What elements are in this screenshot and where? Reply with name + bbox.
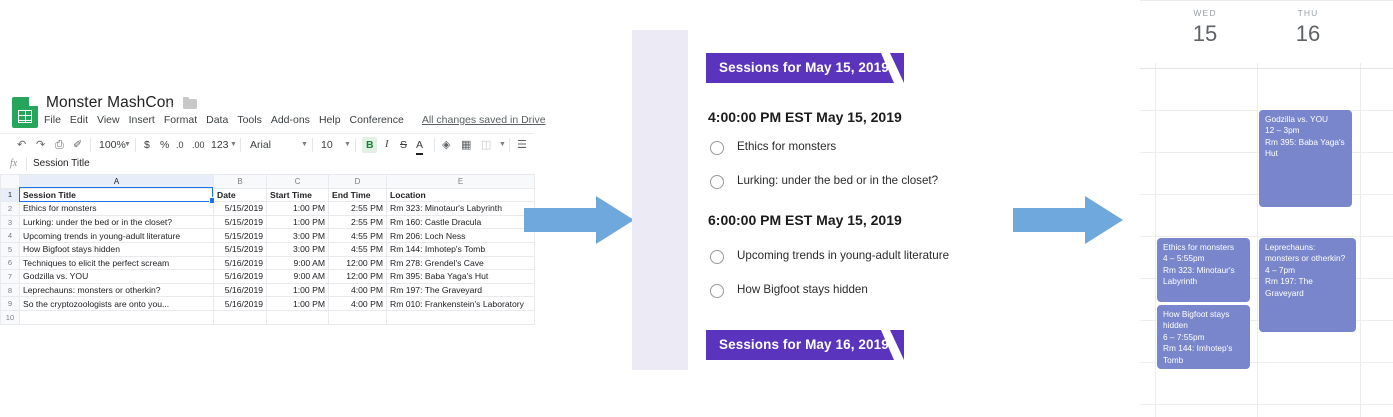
event-title: Godzilla vs. YOU xyxy=(1265,114,1347,125)
cell-a9[interactable]: So the cryptozoologists are onto you... xyxy=(20,297,214,311)
fill-color-icon[interactable]: ◈ xyxy=(442,134,450,156)
fx-icon: fx xyxy=(10,158,17,169)
column-header-row: A B C D E xyxy=(1,175,535,189)
event-location: Rm 144: Imhotep's Tomb xyxy=(1163,343,1245,366)
option-label: Ethics for monsters xyxy=(737,140,836,153)
section-banner-label: Sessions for May 16, 2019 xyxy=(719,330,889,360)
align-icon[interactable]: ☰ xyxy=(517,134,527,156)
google-calendar-panel: WED 15 THU 16 Godzilla vs. YOU 12 – 3pm … xyxy=(1140,0,1393,417)
cell-e2[interactable]: Rm 323: Minotaur's Labyrinth xyxy=(387,202,535,216)
cell-d2[interactable]: 2:55 PM xyxy=(329,202,387,216)
cell-d1[interactable]: End Time xyxy=(329,188,387,202)
corner-select-all[interactable] xyxy=(1,175,20,189)
event-time: 4 – 5:55pm xyxy=(1163,253,1245,264)
row-header-6[interactable]: 6 xyxy=(1,256,20,270)
cell-e8[interactable]: Rm 197: The Graveyard xyxy=(387,283,535,297)
day-number-label: 16 xyxy=(1258,21,1358,47)
cell-c2[interactable]: 1:00 PM xyxy=(267,202,329,216)
cell-a5[interactable]: How Bigfoot stays hidden xyxy=(20,242,214,256)
chevron-down-icon[interactable]: ▼ xyxy=(230,134,237,156)
menu-item-view[interactable]: View xyxy=(97,114,120,126)
calendar-hour-line xyxy=(1140,236,1393,237)
calendar-top-divider xyxy=(1140,0,1393,1)
table-row: 8 Leprechauns: monsters or otherkin? 5/1… xyxy=(1,283,535,297)
cell-a7[interactable]: Godzilla vs. YOU xyxy=(20,270,214,284)
cell-e1[interactable]: Location xyxy=(387,188,535,202)
option-label: How Bigfoot stays hidden xyxy=(737,283,868,296)
cell-b9[interactable]: 5/16/2019 xyxy=(214,297,267,311)
row-header-5[interactable]: 5 xyxy=(1,242,20,256)
menu-item-addons[interactable]: Add-ons xyxy=(271,114,310,126)
cell-d10[interactable] xyxy=(329,310,387,324)
cell-d5[interactable]: 4:55 PM xyxy=(329,242,387,256)
table-row: 5 How Bigfoot stays hidden 5/15/2019 3:0… xyxy=(1,242,535,256)
cell-d8[interactable]: 4:00 PM xyxy=(329,283,387,297)
cell-b5[interactable]: 5/15/2019 xyxy=(214,242,267,256)
cell-a10[interactable] xyxy=(20,310,214,324)
calendar-day-header-thu[interactable]: THU 16 xyxy=(1258,8,1358,47)
arrow-sheet-to-form xyxy=(524,196,634,244)
toolbar-divider xyxy=(434,138,435,152)
form-card: Sessions for May 15, 2019 4:00:00 PM EST… xyxy=(688,30,955,370)
cell-c8[interactable]: 1:00 PM xyxy=(267,283,329,297)
day-of-week-label: THU xyxy=(1258,8,1358,18)
decrease-decimal-button[interactable]: .0 xyxy=(176,134,184,156)
cell-b2[interactable]: 5/15/2019 xyxy=(214,202,267,216)
radio-icon[interactable] xyxy=(710,141,724,155)
font-family-select[interactable]: Arial xyxy=(250,134,271,156)
chevron-down-icon[interactable]: ▼ xyxy=(124,134,131,156)
cell-d3[interactable]: 2:55 PM xyxy=(329,215,387,229)
option-lurking-under-the-bed[interactable]: Lurking: under the bed or in the closet? xyxy=(710,173,940,193)
row-header-10[interactable]: 10 xyxy=(1,310,20,324)
row-header-1[interactable]: 1 xyxy=(1,188,20,202)
borders-icon[interactable]: ▦ xyxy=(461,134,471,156)
spreadsheet-grid[interactable]: A B C D E 1 Session Title Date Start Tim… xyxy=(0,174,534,318)
radio-icon[interactable] xyxy=(710,250,724,264)
day-of-week-label: WED xyxy=(1155,8,1255,18)
cell-b10[interactable] xyxy=(214,310,267,324)
calendar-hour-line xyxy=(1140,68,1393,69)
event-location: Rm 197: The Graveyard xyxy=(1265,276,1351,299)
cell-e9[interactable]: Rm 010: Frankenstein's Laboratory xyxy=(387,297,535,311)
toolbar-divider xyxy=(90,138,91,152)
option-ethics-for-monsters[interactable]: Ethics for monsters xyxy=(710,139,940,159)
event-title: How Bigfoot stays hidden xyxy=(1163,309,1245,332)
column-header-d[interactable]: D xyxy=(329,175,387,189)
table-row: 1 Session Title Date Start Time End Time… xyxy=(1,188,535,202)
table-row: 2 Ethics for monsters 5/15/2019 1:00 PM … xyxy=(1,202,535,216)
cell-a4[interactable]: Upcoming trends in young-adult literatur… xyxy=(20,229,214,243)
bold-button[interactable]: B xyxy=(366,134,374,156)
option-label: Upcoming trends in young-adult literatur… xyxy=(737,249,949,262)
arrow-form-to-calendar xyxy=(1013,196,1123,244)
star-icon[interactable]: ☆ xyxy=(165,98,176,112)
cell-e7[interactable]: Rm 395: Baba Yaga's Hut xyxy=(387,270,535,284)
menu-item-edit[interactable]: Edit xyxy=(70,114,88,126)
table-row: 4 Upcoming trends in young-adult literat… xyxy=(1,229,535,243)
table-row: 6 Techniques to elicit the perfect screa… xyxy=(1,256,535,270)
paint-format-button[interactable]: ✐ xyxy=(73,134,82,156)
sheets-titlebar: Monster MashCon ☆ FileEditViewInsertForm… xyxy=(0,92,534,132)
cell-c3[interactable]: 1:00 PM xyxy=(267,215,329,229)
increase-decimal-button[interactable]: .00 xyxy=(192,134,205,156)
section-banner-may-15: Sessions for May 15, 2019 xyxy=(706,53,904,83)
table-row: 10 xyxy=(1,310,535,324)
section-banner-label: Sessions for May 15, 2019 xyxy=(719,53,889,83)
toolbar-divider xyxy=(312,138,313,152)
day-number-label: 15 xyxy=(1155,21,1255,47)
toolbar-divider xyxy=(509,138,510,152)
table-row: 9 So the cryptozoologists are onto you..… xyxy=(1,297,535,311)
cell-c9[interactable]: 1:00 PM xyxy=(267,297,329,311)
sheets-toolbar: ↶ ↷ ⎙ ✐ 100% ▼ $ % .0 .00 123 ▼ Arial ▼ … xyxy=(0,133,534,157)
zoom-level-select[interactable]: 100% xyxy=(99,134,126,156)
cell-c1[interactable]: Start Time xyxy=(267,188,329,202)
toolbar-divider xyxy=(355,138,356,152)
undo-button[interactable]: ↶ xyxy=(17,134,26,156)
workflow-diagram: Monster MashCon ☆ FileEditViewInsertForm… xyxy=(0,0,1393,417)
option-how-bigfoot-stays-hidden[interactable]: How Bigfoot stays hidden xyxy=(710,282,950,302)
time-heading-6pm: 6:00:00 PM EST May 15, 2019 xyxy=(708,212,902,228)
cell-d4[interactable]: 4:55 PM xyxy=(329,229,387,243)
cell-d9[interactable]: 4:00 PM xyxy=(329,297,387,311)
column-header-b[interactable]: B xyxy=(214,175,267,189)
font-size-select[interactable]: 10 xyxy=(321,134,333,156)
row-header-7[interactable]: 7 xyxy=(1,270,20,284)
calendar-column-divider xyxy=(1155,63,1156,417)
chevron-down-icon[interactable]: ▼ xyxy=(499,134,506,156)
section-banner-may-16: Sessions for May 16, 2019 xyxy=(706,330,904,360)
cell-c4[interactable]: 3:00 PM xyxy=(267,229,329,243)
text-color-button[interactable]: A xyxy=(416,137,423,155)
cell-c5[interactable]: 3:00 PM xyxy=(267,242,329,256)
cell-d6[interactable]: 12:00 PM xyxy=(329,256,387,270)
toolbar-divider xyxy=(135,138,136,152)
cell-c10[interactable] xyxy=(267,310,329,324)
save-status[interactable]: All changes saved in Drive xyxy=(422,114,546,126)
menu-item-file[interactable]: File xyxy=(44,114,61,126)
event-location: Rm 395: Baba Yaga's Hut xyxy=(1265,137,1347,160)
chevron-down-icon[interactable]: ▼ xyxy=(301,134,308,156)
cell-d7[interactable]: 12:00 PM xyxy=(329,270,387,284)
cell-b6[interactable]: 5/16/2019 xyxy=(214,256,267,270)
calendar-event-ethics[interactable]: Ethics for monsters 4 – 5:55pm Rm 323: M… xyxy=(1157,238,1250,302)
event-time: 4 – 7pm xyxy=(1265,265,1351,276)
column-header-c[interactable]: C xyxy=(267,175,329,189)
merge-cells-icon[interactable]: ◫ xyxy=(481,134,491,156)
move-to-folder-icon[interactable] xyxy=(183,99,197,109)
more-formats-button[interactable]: 123 xyxy=(211,134,229,156)
table-row: 7 Godzilla vs. YOU 5/16/2019 9:00 AM 12:… xyxy=(1,270,535,284)
cell-e6[interactable]: Rm 278: Grendel's Cave xyxy=(387,256,535,270)
row-header-2[interactable]: 2 xyxy=(1,202,20,216)
redo-button[interactable]: ↷ xyxy=(36,134,45,156)
cell-a8[interactable]: Leprechauns: monsters or otherkin? xyxy=(20,283,214,297)
cell-e10[interactable] xyxy=(387,310,535,324)
google-form-panel: Sessions for May 15, 2019 4:00:00 PM EST… xyxy=(632,30,955,370)
cell-e5[interactable]: Rm 144: Imhotep's Tomb xyxy=(387,242,535,256)
cell-b7[interactable]: 5/16/2019 xyxy=(214,270,267,284)
column-header-a[interactable]: A xyxy=(20,175,214,189)
print-button[interactable]: ⎙ xyxy=(55,134,64,156)
sheet-table: A B C D E 1 Session Title Date Start Tim… xyxy=(0,174,535,325)
italic-button[interactable]: I xyxy=(385,134,389,156)
cell-b4[interactable]: 5/15/2019 xyxy=(214,229,267,243)
option-label: Lurking: under the bed or in the closet? xyxy=(737,174,938,187)
menu-item-tools[interactable]: Tools xyxy=(237,114,262,126)
calendar-event-godzilla[interactable]: Godzilla vs. YOU 12 – 3pm Rm 395: Baba Y… xyxy=(1259,110,1352,207)
toolbar-divider xyxy=(240,138,241,152)
google-sheets-panel: Monster MashCon ☆ FileEditViewInsertForm… xyxy=(0,92,534,318)
sheets-icon[interactable] xyxy=(12,97,38,128)
calendar-column-divider xyxy=(1257,63,1258,417)
cell-e4[interactable]: Rm 206: Loch Ness xyxy=(387,229,535,243)
cell-c7[interactable]: 9:00 AM xyxy=(267,270,329,284)
option-upcoming-trends[interactable]: Upcoming trends in young-adult literatur… xyxy=(710,248,950,268)
menu-item-data[interactable]: Data xyxy=(206,114,228,126)
row-header-3[interactable]: 3 xyxy=(1,215,20,229)
strikethrough-button[interactable]: S xyxy=(400,134,407,156)
cell-a3[interactable]: Lurking: under the bed or in the closet? xyxy=(20,215,214,229)
row-header-8[interactable]: 8 xyxy=(1,283,20,297)
event-title: Leprechauns: monsters or otherkin? xyxy=(1265,242,1351,265)
calendar-day-header-wed[interactable]: WED 15 xyxy=(1155,8,1255,47)
radio-icon[interactable] xyxy=(710,175,724,189)
calendar-event-leprechauns[interactable]: Leprechauns: monsters or otherkin? 4 – 7… xyxy=(1259,238,1356,332)
formula-divider xyxy=(26,157,27,171)
event-title: Ethics for monsters xyxy=(1163,242,1245,253)
event-time: 12 – 3pm xyxy=(1265,125,1347,136)
calendar-event-bigfoot[interactable]: How Bigfoot stays hidden 6 – 7:55pm Rm 1… xyxy=(1157,305,1250,369)
cell-b1[interactable]: Date xyxy=(214,188,267,202)
formula-bar: fx Session Title xyxy=(0,155,534,175)
cell-b8[interactable]: 5/16/2019 xyxy=(214,283,267,297)
cell-c6[interactable]: 9:00 AM xyxy=(267,256,329,270)
page-title[interactable]: Monster MashCon xyxy=(46,94,174,112)
cell-e3[interactable]: Rm 160: Castle Dracula xyxy=(387,215,535,229)
cell-a2[interactable]: Ethics for monsters xyxy=(20,202,214,216)
cell-a6[interactable]: Techniques to elicit the perfect scream xyxy=(20,256,214,270)
event-location: Rm 323: Minotaur's Labyrinth xyxy=(1163,265,1245,288)
menu-item-help[interactable]: Help xyxy=(319,114,341,126)
time-heading-4pm: 4:00:00 PM EST May 15, 2019 xyxy=(708,109,902,125)
event-time: 6 – 7:55pm xyxy=(1163,332,1245,343)
cell-b3[interactable]: 5/15/2019 xyxy=(214,215,267,229)
formula-input[interactable]: Session Title xyxy=(33,158,90,169)
calendar-hour-line xyxy=(1140,404,1393,405)
radio-icon[interactable] xyxy=(710,284,724,298)
chevron-down-icon[interactable]: ▼ xyxy=(344,134,351,156)
menu-item-insert[interactable]: Insert xyxy=(129,114,155,126)
table-row: 3 Lurking: under the bed or in the close… xyxy=(1,215,535,229)
menu-bar: FileEditViewInsertFormatDataToolsAdd-ons… xyxy=(44,114,546,132)
menu-item-format[interactable]: Format xyxy=(164,114,197,126)
cell-a1[interactable]: Session Title xyxy=(20,188,214,202)
calendar-column-divider xyxy=(1360,63,1361,417)
menu-item-conference[interactable]: Conference xyxy=(350,114,404,126)
column-header-e[interactable]: E xyxy=(387,175,535,189)
row-header-4[interactable]: 4 xyxy=(1,229,20,243)
currency-format-button[interactable]: $ xyxy=(144,134,150,156)
percent-format-button[interactable]: % xyxy=(160,134,169,156)
row-header-9[interactable]: 9 xyxy=(1,297,20,311)
